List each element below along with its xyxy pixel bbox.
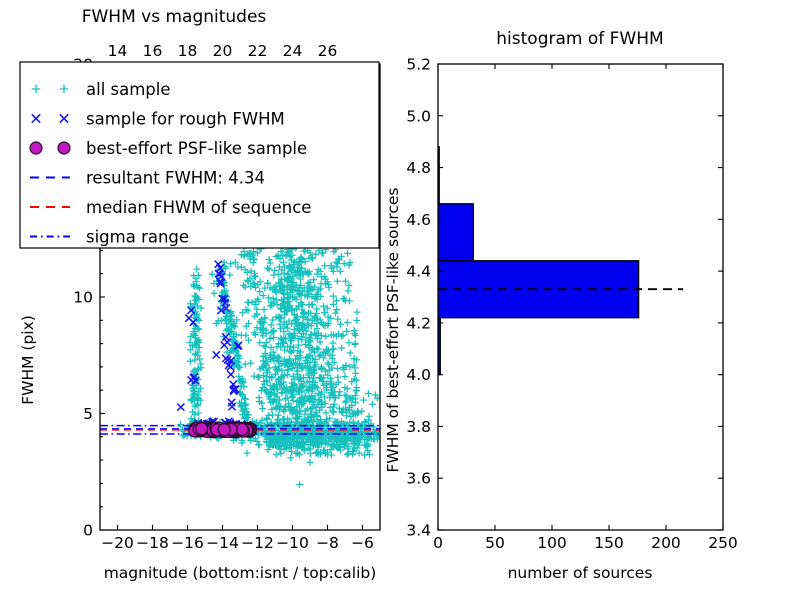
left-xtick-label: −12 (241, 534, 274, 552)
left-panel-xlabel: magnitude (bottom:isnt / top:calib) (104, 564, 377, 582)
left-top-xtick-label: 26 (318, 42, 338, 60)
legend-marker-circle-icon (30, 142, 42, 154)
legend-item-label: sample for rough FWHM (86, 110, 285, 129)
left-top-xtick-label: 16 (143, 42, 163, 60)
left-xtick-label: −8 (316, 534, 339, 552)
right-xtick-label: 0 (433, 534, 443, 552)
scatter-point-psf-sample (236, 423, 248, 435)
right-xtick-label: 50 (485, 534, 505, 552)
left-top-xtick-label: 24 (283, 42, 303, 60)
left-ytick-label: 0 (83, 522, 93, 540)
legend: all samplesample for rough FWHMbest-effo… (20, 62, 379, 248)
right-ytick-label: 3.4 (406, 522, 431, 540)
legend-item-label: best-effort PSF-like sample (86, 139, 307, 158)
right-ytick-label: 5.2 (406, 56, 431, 74)
right-ytick-label: 3.6 (406, 470, 431, 488)
right-ytick-label: 5.0 (406, 107, 431, 125)
scatter-point-psf-sample (218, 424, 230, 436)
right-ytick-label: 4.2 (406, 314, 431, 332)
left-xtick-label: −14 (206, 534, 239, 552)
left-panel-title: FWHM vs magnitudes (82, 7, 267, 27)
left-xtick-label: −10 (276, 534, 309, 552)
right-ytick-label: 3.8 (406, 418, 431, 436)
legend-item-label: median FHWM of sequence (86, 198, 311, 217)
left-top-xtick-label: 22 (248, 42, 268, 60)
figure-canvas: −20−18−16−14−12−10−8−6141618202224260510… (0, 0, 800, 600)
right-xtick-label: 150 (594, 534, 624, 552)
left-top-xtick-label: 20 (213, 42, 233, 60)
left-top-xtick-label: 14 (108, 42, 128, 60)
legend-marker-circle-icon (58, 142, 70, 154)
legend-item-label: resultant FWHM: 4.34 (86, 169, 265, 188)
right-xtick-label: 100 (537, 534, 567, 552)
right-xtick-label: 200 (651, 534, 681, 552)
right-panel-xlabel: number of sources (508, 564, 653, 582)
histogram-bar (438, 204, 473, 261)
left-xtick-label: −6 (351, 534, 374, 552)
right-panel-title: histogram of FWHM (496, 29, 663, 49)
left-panel-ylabel: FWHM (pix) (19, 315, 37, 405)
matplotlib-figure: −20−18−16−14−12−10−8−6141618202224260510… (0, 0, 800, 600)
legend-item-label: sigma range (86, 228, 189, 247)
right-ytick-label: 4.4 (406, 263, 431, 281)
right-ytick-label: 4.6 (406, 211, 431, 229)
left-xtick-label: −16 (171, 534, 204, 552)
left-top-xtick-label: 18 (178, 42, 198, 60)
left-xtick-label: −20 (101, 534, 134, 552)
right-ytick-label: 4.0 (406, 366, 431, 384)
scatter-point-psf-sample (196, 423, 208, 435)
right-ytick-label: 4.8 (406, 159, 431, 177)
left-xtick-label: −18 (136, 534, 169, 552)
right-panel-ylabel: FWHM of best-effort PSF-like sources (384, 187, 402, 472)
scatter-layer-psf-sample (189, 422, 257, 438)
legend-item-label: all sample (86, 80, 171, 99)
left-ytick-label: 5 (83, 405, 93, 423)
right-xtick-label: 250 (708, 534, 738, 552)
left-ytick-label: 10 (73, 289, 93, 307)
